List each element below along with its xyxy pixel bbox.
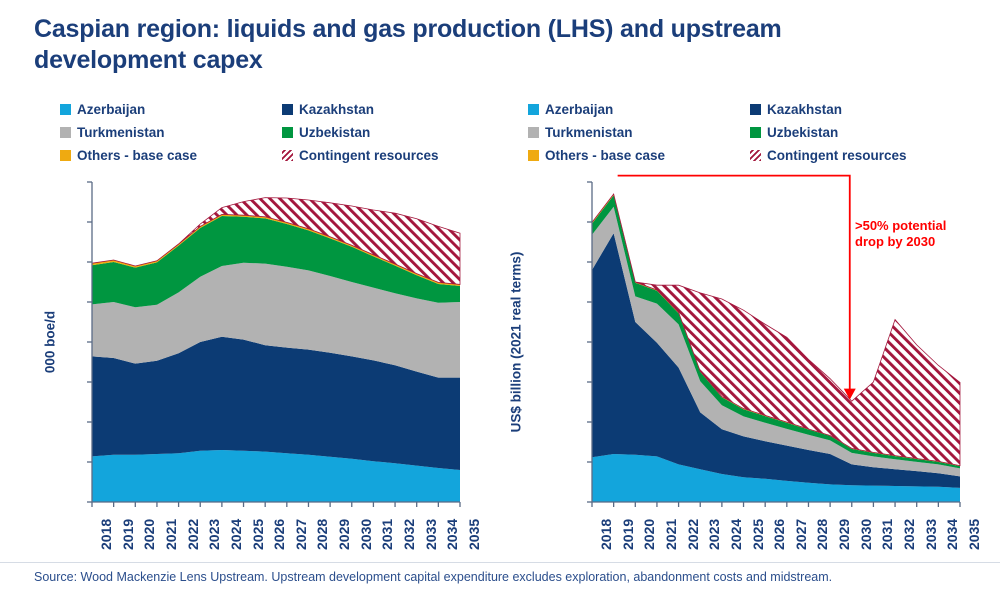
x-tick-label: 2018 xyxy=(598,519,614,550)
legend-item-others-base-case[interactable]: Others - base case xyxy=(60,148,282,163)
legend-row: Others - base caseContingent resources xyxy=(528,144,907,167)
legend-swatch-icon xyxy=(750,104,761,115)
legend-row: AzerbaijanKazakhstan xyxy=(528,98,907,121)
x-tick-label: 2034 xyxy=(944,519,960,550)
legend-item-contingent-resources[interactable]: Contingent resources xyxy=(750,148,907,163)
legend-swatch-icon xyxy=(60,150,71,161)
x-tick-label: 2030 xyxy=(858,519,874,550)
x-tick-label: 2023 xyxy=(206,519,222,550)
area-series-contingent-resources xyxy=(92,198,460,285)
x-tick-label: 2024 xyxy=(228,519,244,550)
annotation-arrow-icon xyxy=(618,176,856,400)
x-tick-label: 2028 xyxy=(314,519,330,550)
x-tick-label: 2026 xyxy=(271,519,287,550)
legend-right: AzerbaijanKazakhstanTurkmenistanUzbekist… xyxy=(528,98,907,167)
x-tick-label: 2019 xyxy=(120,519,136,550)
x-tick-label: 2025 xyxy=(250,519,266,550)
y-axis-title: 000 boe/d xyxy=(43,311,58,373)
legend-label: Uzbekistan xyxy=(299,125,370,140)
x-tick-label: 2020 xyxy=(141,519,157,550)
x-tick-label: 2030 xyxy=(358,519,374,550)
legend-item-kazakhstan[interactable]: Kazakhstan xyxy=(282,102,374,117)
legend-item-uzbekistan[interactable]: Uzbekistan xyxy=(282,125,370,140)
legend-swatch-icon xyxy=(750,127,761,138)
x-tick-label: 2027 xyxy=(793,519,809,550)
legend-swatch-icon xyxy=(60,104,71,115)
x-tick-label: 2031 xyxy=(879,519,895,550)
legend-item-turkmenistan[interactable]: Turkmenistan xyxy=(60,125,282,140)
x-tick-label: 2032 xyxy=(901,519,917,550)
source-note: Source: Wood Mackenzie Lens Upstream. Up… xyxy=(34,570,832,584)
legend-item-turkmenistan[interactable]: Turkmenistan xyxy=(528,125,750,140)
x-tick-label: 2029 xyxy=(836,519,852,550)
x-tick-label: 2025 xyxy=(750,519,766,550)
x-tick-label: 2033 xyxy=(423,519,439,550)
annotation-drop-label: >50% potential drop by 2030 xyxy=(855,218,946,251)
x-tick-label: 2024 xyxy=(728,519,744,550)
legend-swatch-icon xyxy=(60,127,71,138)
legend-label: Others - base case xyxy=(77,148,197,163)
x-tick-label: 2018 xyxy=(98,519,114,550)
legend-label: Kazakhstan xyxy=(299,102,374,117)
x-tick-label: 2027 xyxy=(293,519,309,550)
legend-item-contingent-resources[interactable]: Contingent resources xyxy=(282,148,439,163)
x-tick-label: 2035 xyxy=(466,519,482,550)
legend-item-uzbekistan[interactable]: Uzbekistan xyxy=(750,125,838,140)
legend-left: AzerbaijanKazakhstanTurkmenistanUzbekist… xyxy=(60,98,439,167)
legend-label: Turkmenistan xyxy=(77,125,165,140)
area-series-kazakhstan xyxy=(592,233,960,488)
legend-swatch-hatched-icon xyxy=(750,150,761,161)
legend-item-azerbaijan[interactable]: Azerbaijan xyxy=(60,102,282,117)
legend-row: TurkmenistanUzbekistan xyxy=(528,121,907,144)
y-axis-title: US$ billion (2021 real terms) xyxy=(509,252,524,433)
legend-label: Contingent resources xyxy=(767,148,907,163)
legend-swatch-icon xyxy=(528,104,539,115)
legend-swatch-icon xyxy=(282,104,293,115)
legend-item-azerbaijan[interactable]: Azerbaijan xyxy=(528,102,750,117)
legend-label: Others - base case xyxy=(545,148,665,163)
legend-swatch-icon xyxy=(528,150,539,161)
legend-label: Azerbaijan xyxy=(545,102,613,117)
x-tick-label: 2033 xyxy=(923,519,939,550)
x-tick-label: 2032 xyxy=(401,519,417,550)
legend-label: Contingent resources xyxy=(299,148,439,163)
area-series-azerbaijan xyxy=(592,454,960,502)
area-series-uzbekistan xyxy=(92,216,460,307)
legend-label: Azerbaijan xyxy=(77,102,145,117)
legend-swatch-hatched-icon xyxy=(282,150,293,161)
x-tick-label: 2026 xyxy=(771,519,787,550)
legend-item-others-base-case[interactable]: Others - base case xyxy=(528,148,750,163)
x-tick-label: 2022 xyxy=(685,519,701,550)
x-tick-label: 2020 xyxy=(641,519,657,550)
area-series-others-base-case xyxy=(92,214,460,286)
legend-label: Turkmenistan xyxy=(545,125,633,140)
area-series-kazakhstan xyxy=(92,337,460,470)
legend-swatch-icon xyxy=(528,127,539,138)
legend-swatch-icon xyxy=(282,127,293,138)
area-series-azerbaijan xyxy=(92,450,460,502)
x-tick-label: 2021 xyxy=(663,519,679,550)
legend-row: AzerbaijanKazakhstan xyxy=(60,98,439,121)
legend-label: Uzbekistan xyxy=(767,125,838,140)
page-title: Caspian region: liquids and gas producti… xyxy=(34,14,934,75)
legend-row: Others - base caseContingent resources xyxy=(60,144,439,167)
legend-item-kazakhstan[interactable]: Kazakhstan xyxy=(750,102,842,117)
area-series-turkmenistan xyxy=(92,263,460,378)
x-tick-label: 2028 xyxy=(814,519,830,550)
x-tick-label: 2029 xyxy=(336,519,352,550)
legend-row: TurkmenistanUzbekistan xyxy=(60,121,439,144)
x-tick-label: 2022 xyxy=(185,519,201,550)
x-tick-label: 2034 xyxy=(444,519,460,550)
x-tick-label: 2035 xyxy=(966,519,982,550)
legend-label: Kazakhstan xyxy=(767,102,842,117)
chart-page: Caspian region: liquids and gas producti… xyxy=(0,0,1000,600)
footer-divider xyxy=(0,562,1000,563)
x-tick-label: 2023 xyxy=(706,519,722,550)
x-tick-label: 2031 xyxy=(379,519,395,550)
x-tick-label: 2019 xyxy=(620,519,636,550)
x-tick-label: 2021 xyxy=(163,519,179,550)
